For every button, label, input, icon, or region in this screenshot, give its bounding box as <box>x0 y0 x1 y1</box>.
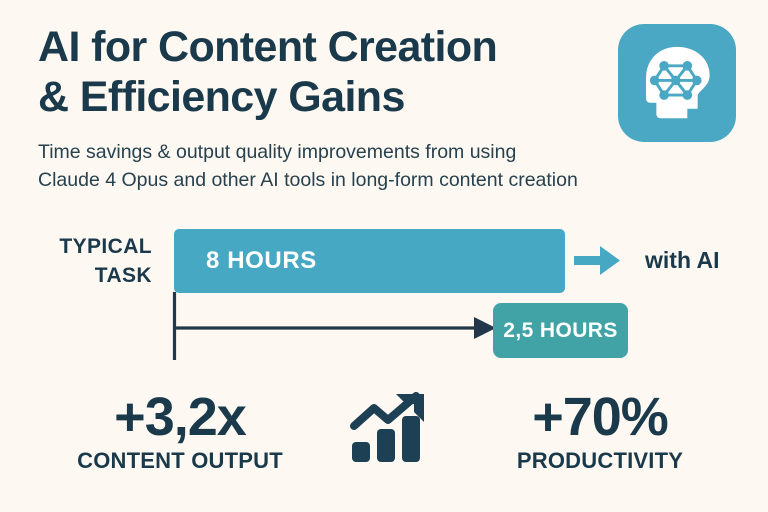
bar-typical-task: 8 HOURS <box>174 229 565 293</box>
subtitle-line-2: Claude 4 Opus and other AI tools in long… <box>38 166 678 194</box>
bar-with-ai-value: 2,5 HOURS <box>503 319 617 343</box>
with-ai-label: with AI <box>645 247 720 274</box>
arrow-right-icon <box>574 243 622 279</box>
infographic-canvas: AI for Content Creation & Efficiency Gai… <box>0 0 768 512</box>
page-title: AI for Content Creation & Efficiency Gai… <box>38 22 618 122</box>
stat-productivity-value: +70% <box>455 388 745 446</box>
bar-with-ai: 2,5 HOURS <box>493 303 628 358</box>
connector-arrow-icon <box>168 290 500 368</box>
ai-head-network-icon <box>618 24 736 142</box>
growth-chart-icon <box>348 392 434 464</box>
bar-typical-task-value: 8 HOURS <box>206 247 317 275</box>
typical-task-label-line-1: TYPICAL <box>24 232 152 261</box>
stat-content-output: +3,2x CONTENT OUTPUT <box>30 388 330 474</box>
stat-content-output-label: CONTENT OUTPUT <box>30 448 330 474</box>
title-line-2: & Efficiency Gains <box>38 72 618 122</box>
typical-task-label: TYPICAL TASK <box>24 232 152 290</box>
stat-productivity-label: PRODUCTIVITY <box>455 448 745 474</box>
stat-productivity: +70% PRODUCTIVITY <box>455 388 745 474</box>
stat-content-output-value: +3,2x <box>30 388 330 446</box>
title-line-1: AI for Content Creation <box>38 22 618 72</box>
subtitle-line-1: Time savings & output quality improvemen… <box>38 138 678 166</box>
page-subtitle: Time savings & output quality improvemen… <box>38 138 678 194</box>
typical-task-label-line-2: TASK <box>24 261 152 290</box>
